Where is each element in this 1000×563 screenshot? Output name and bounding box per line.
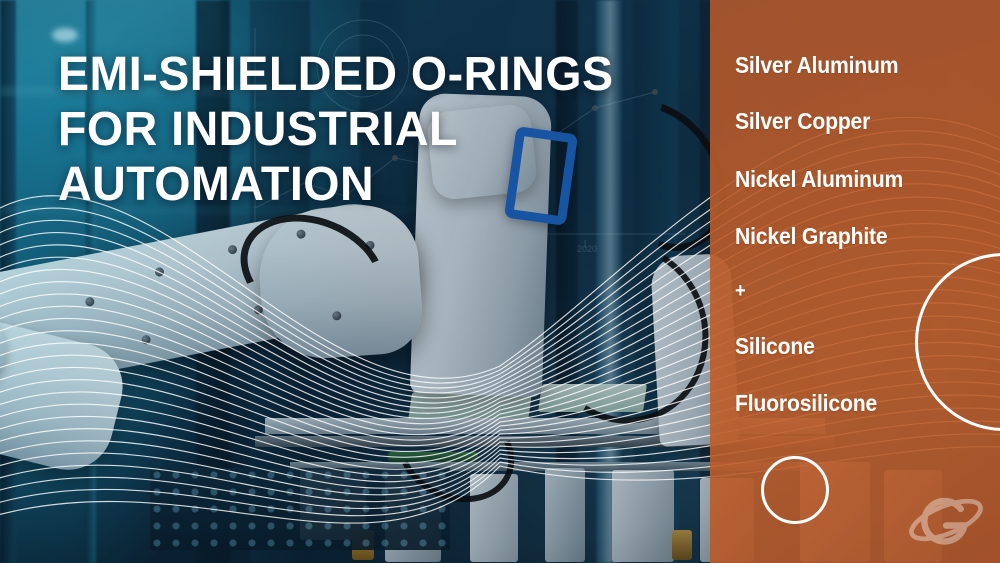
- headline-line-3: Automation: [58, 157, 640, 212]
- material-silver-aluminum: Silver Aluminum: [735, 52, 898, 79]
- material-silver-copper: Silver Copper: [735, 108, 870, 135]
- material-fluorosilicone: Fluorosilicone: [735, 390, 877, 417]
- material-plus-separator: +: [735, 280, 746, 303]
- materials-panel: Silver Aluminum Silver Copper Nickel Alu…: [710, 0, 1000, 563]
- decorative-circle-small: [761, 456, 829, 524]
- material-nickel-graphite: Nickel Graphite: [735, 223, 887, 250]
- globe-swoosh-g-logo: [900, 483, 992, 557]
- material-nickel-aluminum: Nickel Aluminum: [735, 166, 903, 193]
- material-silicone: Silicone: [735, 333, 815, 360]
- headline-line-1: EMI-Shielded O-Rings: [58, 47, 640, 102]
- headline-line-2: for Industrial: [58, 102, 640, 157]
- marketing-banner: 20162017 20182019 2020: [0, 0, 1000, 563]
- page-title: EMI-Shielded O-Rings for Industrial Auto…: [58, 47, 640, 212]
